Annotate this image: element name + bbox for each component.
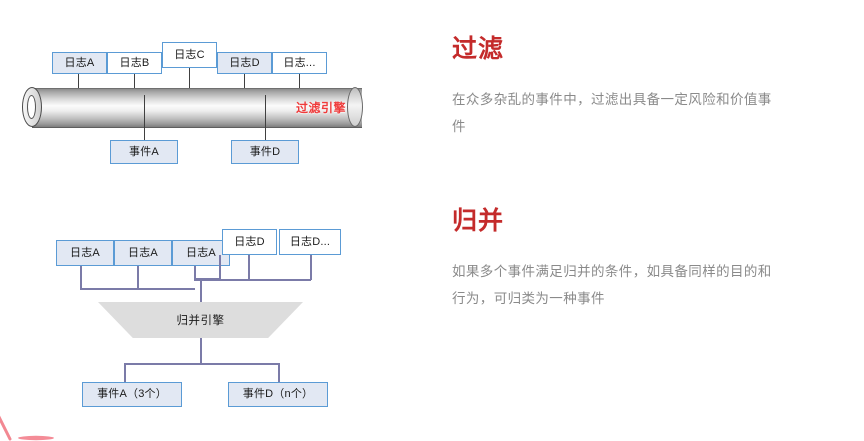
- merge-log-label: 日志A: [186, 248, 216, 259]
- merge-log-label: 日志A: [70, 248, 100, 259]
- section-merge-heading: 归并: [452, 208, 782, 236]
- filter-log-box-2[interactable]: 日志C: [162, 42, 217, 68]
- merge-event-box-1[interactable]: 事件D（n个）: [228, 382, 328, 407]
- merge-log-box-3[interactable]: 日志D: [222, 229, 277, 255]
- merge-diagram: 日志A 日志A 日志A 日志D 日志D... 归并引擎 事件A（3个） 事件D（…: [0, 0, 440, 427]
- section-filter: 过滤 在众多杂乱的事件中，过滤出具备一定风险和价值事件: [452, 36, 782, 140]
- section-merge-body: 如果多个事件满足归并的条件，如具备同样的目的和行为，可归类为一种事件: [452, 258, 782, 312]
- merge-connector-a0: [80, 266, 82, 289]
- merge-log-label: 日志D: [234, 237, 265, 248]
- merge-log-box-4[interactable]: 日志D...: [279, 229, 341, 255]
- merge-bus-upper: [194, 279, 311, 281]
- merge-bus-lower: [80, 288, 195, 290]
- merge-connector-d2: [310, 255, 312, 280]
- section-merge: 归并 如果多个事件满足归并的条件，如具备同样的目的和行为，可归类为一种事件: [452, 208, 782, 312]
- merge-event-box-0[interactable]: 事件A（3个）: [82, 382, 182, 407]
- merge-event-label: 事件D（n个）: [243, 389, 313, 400]
- merge-output-bus: [124, 363, 279, 365]
- merge-connector-d1: [248, 255, 250, 280]
- filter-log-label: 日志C: [174, 50, 205, 61]
- merge-output-connector-0: [124, 363, 126, 382]
- merge-engine-label: 归并引擎: [98, 302, 303, 338]
- merge-connector-a1: [137, 266, 139, 289]
- merge-log-box-0[interactable]: 日志A: [56, 240, 114, 266]
- merge-log-label: 日志A: [128, 248, 158, 259]
- merge-event-label: 事件A（3个）: [97, 389, 167, 400]
- merge-engine-trapezoid: 归并引擎: [98, 302, 303, 338]
- merge-output-connector-1: [278, 363, 280, 382]
- merge-trunk: [200, 279, 202, 303]
- merge-log-label: 日志D...: [290, 237, 330, 248]
- merge-log-box-1[interactable]: 日志A: [114, 240, 172, 266]
- section-filter-heading: 过滤: [452, 36, 782, 64]
- merge-output-trunk: [200, 338, 202, 364]
- section-filter-body: 在众多杂乱的事件中，过滤出具备一定风险和价值事件: [452, 86, 782, 140]
- merge-connector-d0: [219, 255, 221, 279]
